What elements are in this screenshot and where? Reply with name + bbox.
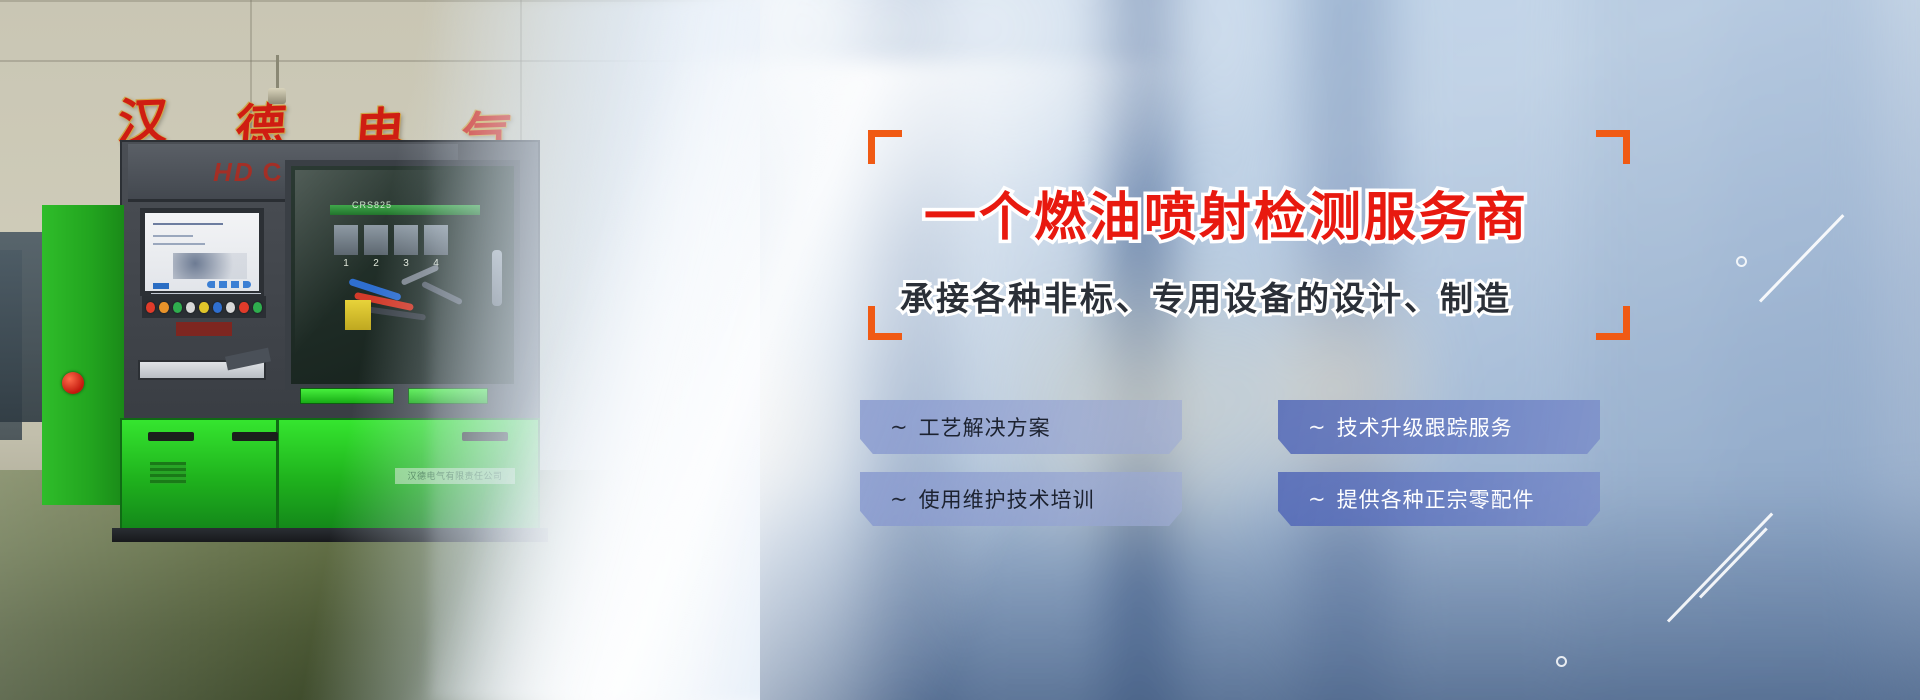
banner-content: 一个燃油喷射检测服务商 承接各种非标、专用设备的设计、制造 ~ 工艺解决方案 ~… xyxy=(0,0,1920,700)
bracket-bottom-left-icon xyxy=(868,306,902,340)
feature-tag-grid: ~ 工艺解决方案 ~ 技术升级跟踪服务 ~ 使用维护技术培训 ~ 提供各种正宗零… xyxy=(860,400,1740,544)
banner-subheadline: 承接各种非标、专用设备的设计、制造 xyxy=(900,272,1512,320)
decor-circle-icon xyxy=(1736,256,1747,267)
tag-label: 使用维护技术培训 xyxy=(919,484,1095,514)
feature-tag-process-solution[interactable]: ~ 工艺解决方案 xyxy=(860,400,1182,454)
tag-bullet-icon: ~ xyxy=(890,487,909,511)
tag-label: 工艺解决方案 xyxy=(919,412,1051,442)
tag-label: 提供各种正宗零配件 xyxy=(1337,484,1535,514)
tag-label: 技术升级跟踪服务 xyxy=(1337,412,1513,442)
decor-line-icon xyxy=(1759,214,1845,302)
banner-headline: 一个燃油喷射检测服务商 xyxy=(924,175,1529,250)
feature-tag-genuine-parts[interactable]: ~ 提供各种正宗零配件 xyxy=(1278,472,1600,526)
feature-tag-row: ~ 工艺解决方案 ~ 技术升级跟踪服务 xyxy=(860,400,1740,454)
bracket-bottom-right-icon xyxy=(1596,306,1630,340)
promo-banner: 汉 德 电 气 HD CRS825 xyxy=(0,0,1920,700)
decor-circle-icon xyxy=(1556,656,1567,667)
feature-tag-tech-upgrade-service[interactable]: ~ 技术升级跟踪服务 xyxy=(1278,400,1600,454)
bracket-top-left-icon xyxy=(868,130,902,164)
tag-bullet-icon: ~ xyxy=(890,415,909,439)
bracket-top-right-icon xyxy=(1596,130,1630,164)
tag-bullet-icon: ~ xyxy=(1308,487,1327,511)
tag-bullet-icon: ~ xyxy=(1308,415,1327,439)
feature-tag-row: ~ 使用维护技术培训 ~ 提供各种正宗零配件 xyxy=(860,472,1740,526)
feature-tag-maintenance-training[interactable]: ~ 使用维护技术培训 xyxy=(860,472,1182,526)
